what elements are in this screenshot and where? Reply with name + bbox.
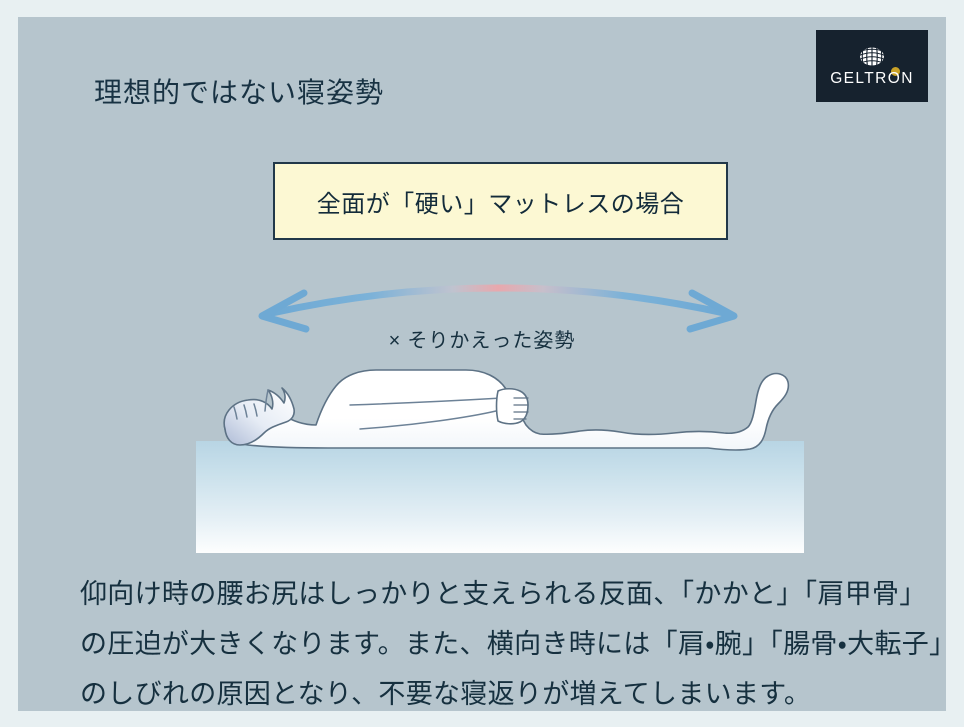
page-title: 理想的ではない寝姿勢 (94, 71, 384, 111)
logo-wordmark-head: GELTR (830, 70, 888, 87)
hand-fist (497, 389, 529, 424)
logo-wordmark-accent-letter: O (888, 70, 901, 87)
description-line-2: の圧迫が大きくなります。また、横向き時には「肩・腕」「腸骨・大転子」 (80, 619, 940, 669)
slide-canvas: 理想的ではない寝姿勢 (18, 17, 946, 711)
posture-caption: ×そりかえった姿勢 (18, 324, 946, 353)
geltron-logo: GELTRON (816, 30, 928, 102)
x-mark-icon: × (389, 330, 402, 352)
logo-wordmark: GELTRON (830, 71, 914, 87)
posture-caption-text: そりかえった姿勢 (407, 330, 575, 352)
logo-wordmark-tail: N (901, 70, 914, 87)
callout-box: 全面が「硬い」マットレスの場合 (273, 162, 728, 240)
description-line-1: 仰向け時の腰お尻はしっかりと支えられる反面、「かかと」「肩甲骨」 (80, 569, 940, 619)
callout-text: 全面が「硬い」マットレスの場合 (317, 184, 685, 219)
description-line-3: のしびれの原因となり、不要な寝返りが増えてしまいます。 (80, 669, 940, 711)
description-paragraph: 仰向け時の腰お尻はしっかりと支えられる反面、「かかと」「肩甲骨」 の圧迫が大きく… (80, 569, 940, 711)
mesh-sphere-icon (859, 46, 885, 67)
supine-person-silhouette (208, 367, 808, 467)
